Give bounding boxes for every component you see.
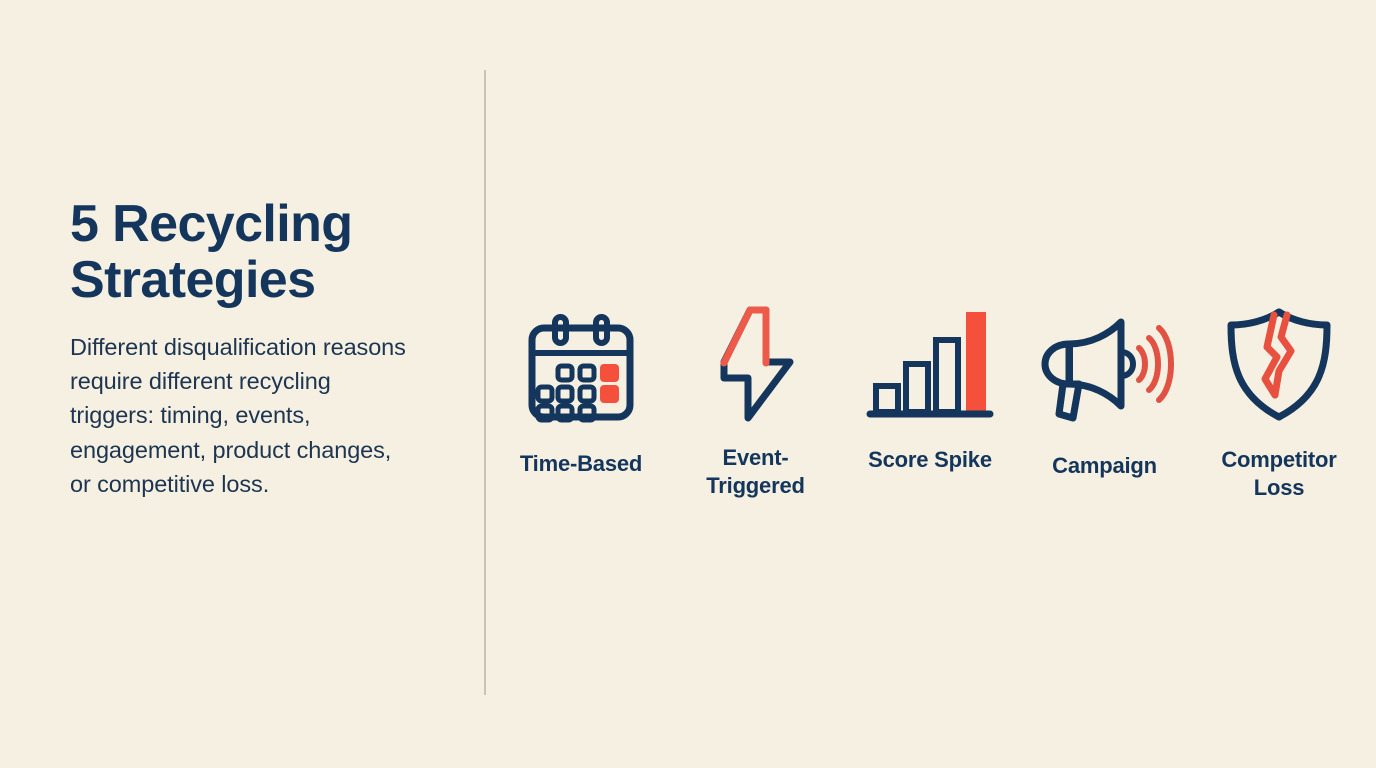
strategy-item-score-spike[interactable]: Score Spike <box>849 296 1011 474</box>
vertical-divider <box>484 70 486 695</box>
page-title: 5 Recycling Strategies <box>70 196 430 308</box>
bar-chart-icon <box>868 296 992 428</box>
strategy-item-time-based[interactable]: Time-Based <box>500 296 662 478</box>
lightning-bolt-icon <box>704 296 808 426</box>
strategy-item-campaign[interactable]: Campaign <box>1024 296 1186 480</box>
megaphone-icon <box>1039 296 1171 434</box>
page-subcopy: Different disqualification reasons requi… <box>70 330 415 500</box>
strategy-icon-row: Time-Based Event-Triggered <box>500 296 1360 502</box>
strategy-label: Event-Triggered <box>681 444 831 500</box>
calendar-icon <box>522 296 640 432</box>
strategy-label: Score Spike <box>868 446 992 474</box>
strategy-label: Competitor Loss <box>1204 446 1354 502</box>
strategy-item-competitor-loss[interactable]: Competitor Loss <box>1198 296 1360 502</box>
slide-root: 5 Recycling Strategies Different disqual… <box>0 0 1376 768</box>
cracked-shield-icon <box>1221 296 1337 428</box>
left-panel: 5 Recycling Strategies Different disqual… <box>70 196 430 501</box>
strategy-label: Campaign <box>1052 452 1157 480</box>
strategy-label: Time-Based <box>520 450 642 478</box>
strategy-item-event-triggered[interactable]: Event-Triggered <box>675 296 837 500</box>
